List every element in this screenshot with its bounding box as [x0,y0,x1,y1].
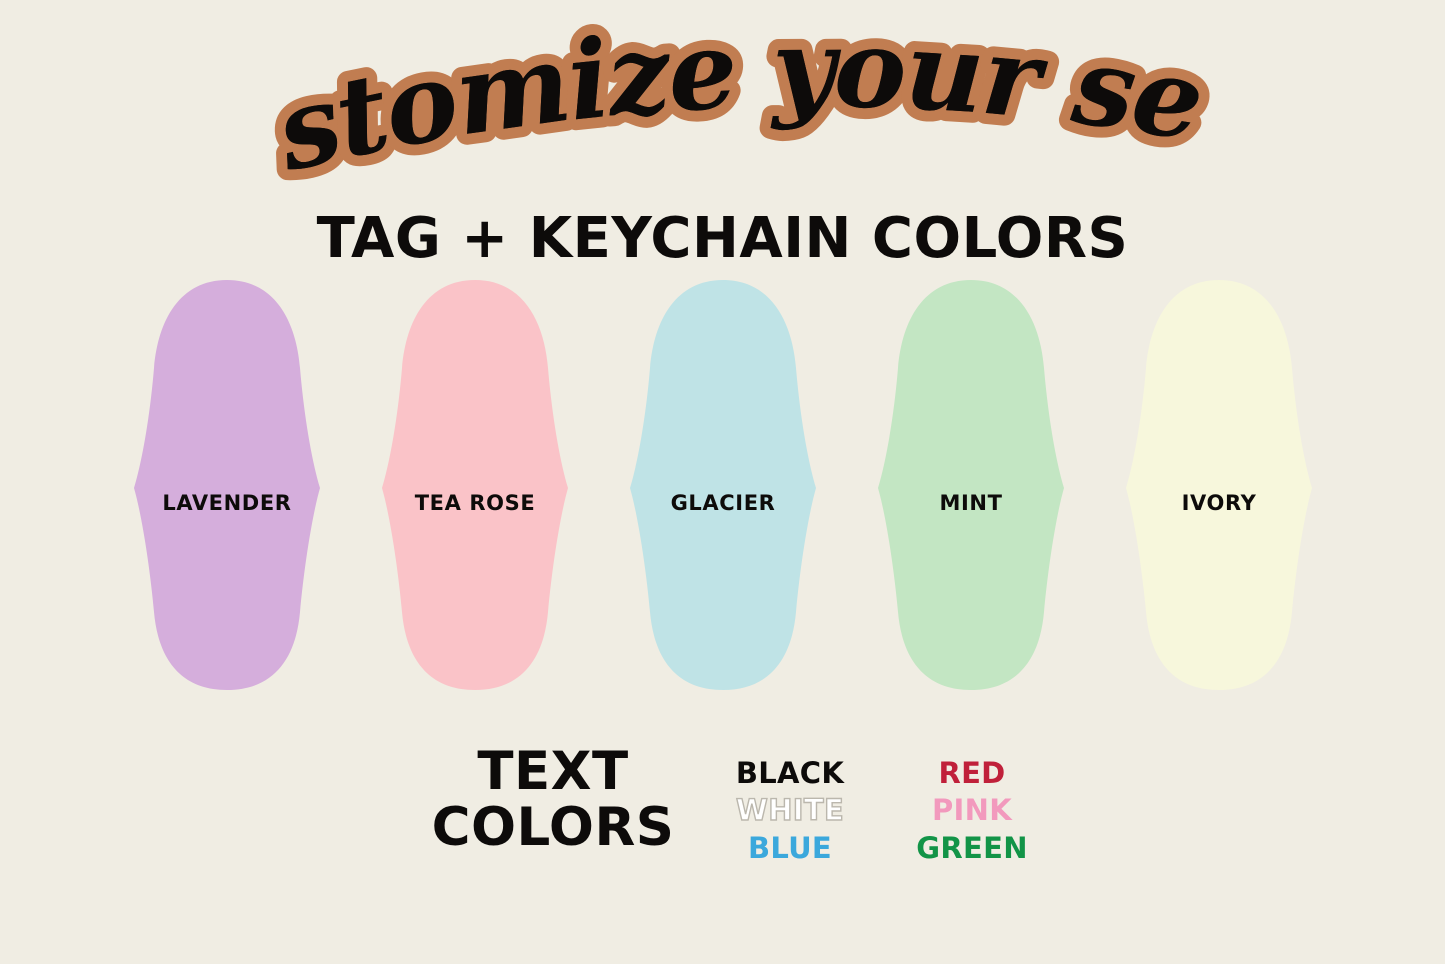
color-swatch-mint[interactable]: MINT [872,276,1070,694]
customization-options-page: customize your set! customize your set! … [0,0,1445,964]
color-swatch-lavender[interactable]: LAVENDER [128,276,326,694]
text-colors-title-line2: COLORS [430,800,676,856]
swatch-shape-icon [1120,276,1318,694]
headline-banner: customize your set! customize your set! [0,28,1445,198]
text-colors-section: TEXT COLORS BLACK WHITE BLUE RED PINK GR… [430,744,1050,874]
swatch-shape-icon [376,276,574,694]
color-swatch-glacier[interactable]: GLACIER [624,276,822,694]
text-color-column-right: RED PINK GREEN [892,744,1052,866]
swatch-shape-icon [872,276,1070,694]
text-color-option-pink[interactable]: PINK [932,793,1012,828]
color-swatch-tea-rose[interactable]: TEA ROSE [376,276,574,694]
headline-text-fill: customize your set! [0,0,1210,196]
swatch-shape-icon [128,276,326,694]
text-color-option-black[interactable]: BLACK [736,756,844,791]
text-color-column-left: BLACK WHITE BLUE [710,744,870,866]
color-swatch-ivory[interactable]: IVORY [1120,276,1318,694]
text-color-option-green[interactable]: GREEN [916,831,1028,866]
text-colors-title-line1: TEXT [430,744,676,800]
swatch-shape-icon [624,276,822,694]
text-color-option-blue[interactable]: BLUE [748,831,832,866]
text-colors-title: TEXT COLORS [430,744,676,855]
text-color-option-red[interactable]: RED [938,756,1005,791]
tag-keychain-colors-heading: TAG + KEYCHAIN COLORS [0,211,1445,267]
text-color-option-white[interactable]: WHITE [736,793,844,828]
tag-color-swatch-row: LAVENDER TEA ROSE GLACIER MINT IVORY [128,276,1318,694]
